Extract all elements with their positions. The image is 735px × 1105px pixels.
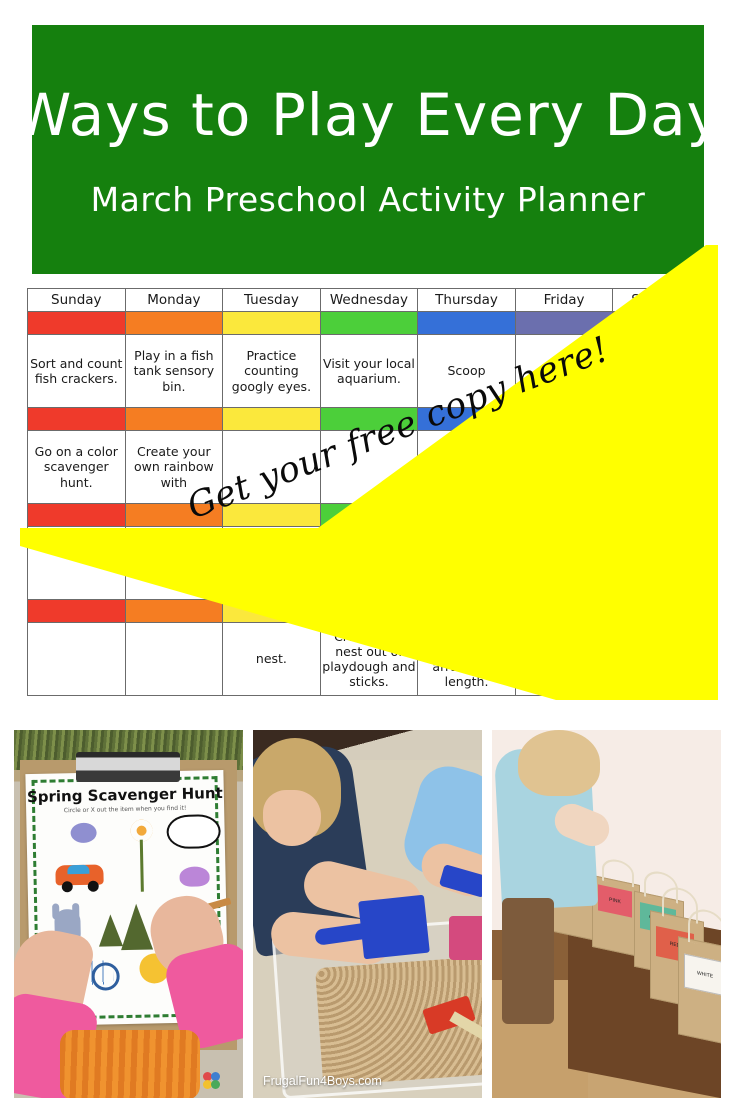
- activity-cell: [223, 527, 321, 600]
- band-sunday: [28, 408, 126, 431]
- activity-cell: nest.: [223, 623, 321, 696]
- activity-cell: Create bird nest out of playdough and st…: [320, 623, 418, 696]
- tree-icon: [98, 914, 123, 946]
- pink-cup: [449, 916, 482, 960]
- activity-cell: [418, 527, 516, 600]
- activity-cell: Go on a color scavenger hunt.: [28, 431, 126, 504]
- band-thursday: [418, 408, 516, 431]
- calendar-body: Sort and count fish crackers. Play in a …: [28, 312, 711, 696]
- cloud-icon: [166, 814, 221, 849]
- child-face: [263, 790, 321, 846]
- activity-cell: Scoop: [418, 335, 516, 408]
- tree-icon: [120, 903, 153, 950]
- band-friday: [515, 504, 613, 527]
- activity-cell: [28, 623, 126, 696]
- band-tuesday: [223, 600, 321, 623]
- page-subtitle: March Preschool Activity Planner: [91, 182, 646, 218]
- activity-cell: [125, 623, 223, 696]
- band-saturday: [613, 312, 711, 335]
- band-monday: [125, 312, 223, 335]
- activity-cell: [125, 527, 223, 600]
- band-wednesday: [320, 600, 418, 623]
- table-row: Sort and count fish crackers. Play in a …: [28, 335, 711, 408]
- day-header-tuesday: Tuesday: [223, 289, 321, 312]
- activity-cell: [418, 431, 516, 504]
- band-wednesday: [320, 504, 418, 527]
- activity-cell: Play in a fish tank sensory bin.: [125, 335, 223, 408]
- day-header-saturday: Saturday: [613, 289, 711, 312]
- color-band-row: [28, 600, 711, 623]
- band-saturday: [613, 408, 711, 431]
- site-logo-icon: [203, 1072, 237, 1088]
- day-header-monday: Monday: [125, 289, 223, 312]
- color-band-row: [28, 504, 711, 527]
- band-wednesday: [320, 312, 418, 335]
- day-header-thursday: Thursday: [418, 289, 516, 312]
- activity-cell: Visit your local aquarium.: [320, 335, 418, 408]
- photo-watermark: FrugalFun4Boys.com: [263, 1074, 382, 1088]
- table-row: Go on a color scavenger hunt. Create you…: [28, 431, 711, 504]
- activity-cell: a bean in a bag and watch it grow.: [515, 527, 613, 600]
- activity-cell: [613, 431, 711, 504]
- clipboard-clip: [76, 752, 180, 782]
- band-tuesday: [223, 408, 321, 431]
- band-thursday: [418, 312, 516, 335]
- child-legs: [502, 898, 554, 1024]
- color-band-row: [28, 408, 711, 431]
- calendar-header-row: Sunday Monday Tuesday Wednesday Thursday…: [28, 289, 711, 312]
- band-thursday: [418, 504, 516, 527]
- activity-cell: Make a list of things you love about spr…: [613, 527, 711, 600]
- activity-cell: [28, 527, 126, 600]
- band-monday: [125, 408, 223, 431]
- band-friday: [515, 408, 613, 431]
- activity-cell: [320, 527, 418, 600]
- band-friday: [515, 312, 613, 335]
- child-hair: [518, 730, 600, 796]
- band-friday: [515, 600, 613, 623]
- band-monday: [125, 600, 223, 623]
- table-row: nest. Create bird nest out of playdough …: [28, 623, 711, 696]
- photo-color-bags: BLACK PINK GREEN RED WHITE: [492, 730, 721, 1098]
- band-sunday: [28, 312, 126, 335]
- photo-sensory-bin: FrugalFun4Boys.com: [253, 730, 482, 1098]
- header-banner: Ways to Play Every Day March Preschool A…: [32, 25, 704, 274]
- activity-cell: Practice counting googly eyes.: [223, 335, 321, 408]
- calendar-table: Sunday Monday Tuesday Wednesday Thursday…: [27, 288, 711, 696]
- band-monday: [125, 504, 223, 527]
- band-sunday: [28, 600, 126, 623]
- band-sunday: [28, 504, 126, 527]
- photo-strip: Spring Scavenger Hunt Circle or X out th…: [14, 730, 721, 1098]
- band-thursday: [418, 600, 516, 623]
- activity-cell: Create your own rainbow with: [125, 431, 223, 504]
- band-tuesday: [223, 504, 321, 527]
- band-tuesday: [223, 312, 321, 335]
- activity-cell: [613, 335, 711, 408]
- page-title: Ways to Play Every Day: [14, 85, 722, 146]
- band-saturday: [613, 600, 711, 623]
- color-band-row: [28, 312, 711, 335]
- butterfly-icon: [179, 866, 209, 887]
- activity-cell: [223, 431, 321, 504]
- activity-cell: [515, 335, 613, 408]
- car-window-icon: [67, 865, 89, 874]
- band-saturday: [613, 504, 711, 527]
- activity-cell: Measure feathers and arrange by length.: [418, 623, 516, 696]
- activity-cell: Sort and count fish crackers.: [28, 335, 126, 408]
- activity-cell: [320, 431, 418, 504]
- day-header-sunday: Sunday: [28, 289, 126, 312]
- band-wednesday: [320, 408, 418, 431]
- activity-calendar: Sunday Monday Tuesday Wednesday Thursday…: [27, 288, 711, 712]
- day-header-wednesday: Wednesday: [320, 289, 418, 312]
- table-row: a bean in a bag and watch it grow. Make …: [28, 527, 711, 600]
- activity-cell: Practice writing letters/ numbers in bir…: [515, 623, 613, 696]
- activity-cell: [515, 431, 613, 504]
- photo-scavenger-hunt: Spring Scavenger Hunt Circle or X out th…: [14, 730, 243, 1098]
- activity-cell: Go on a walk and look for robins.: [613, 623, 711, 696]
- child-hair: [60, 1030, 200, 1098]
- day-header-friday: Friday: [515, 289, 613, 312]
